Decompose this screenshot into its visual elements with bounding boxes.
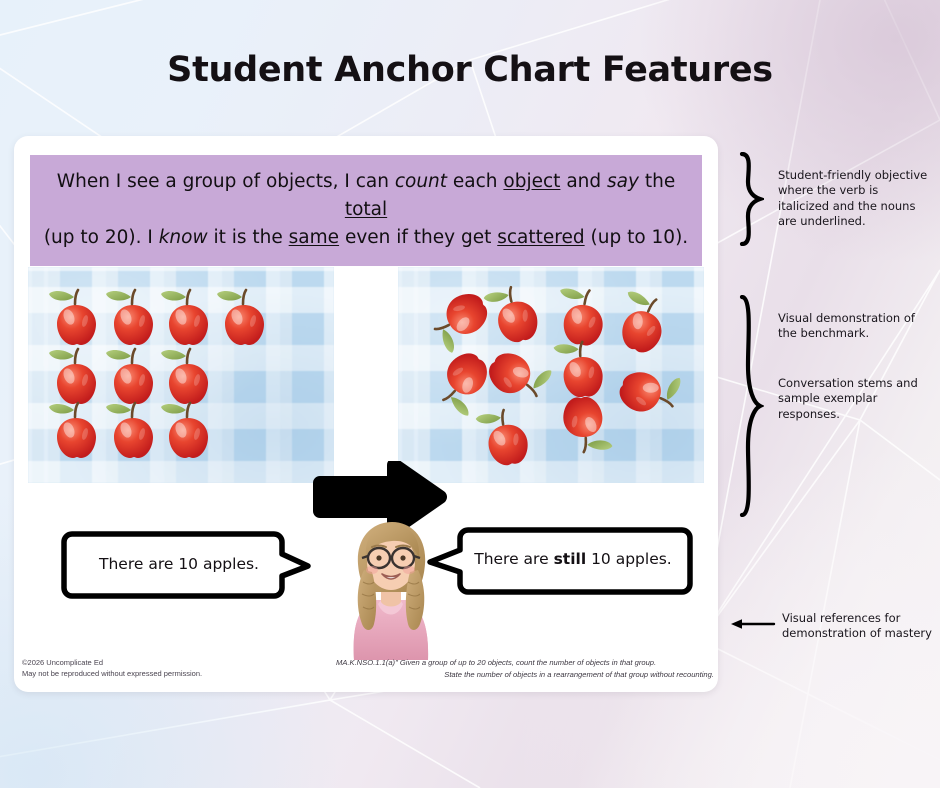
standard-footer: MA.K.NSO.1.1(a)" Given a group of up to …	[336, 657, 714, 681]
objective-line-1: When I see a group of objects, I can cou…	[57, 171, 675, 220]
objective-line-2: (up to 20). I know it is the same even i…	[44, 227, 688, 248]
speech-bubble-right-text: There are still 10 apples.	[466, 550, 680, 568]
copyright-footer: ©2026 Uncomplicate Ed May not be reprodu…	[22, 657, 202, 680]
emphasis-still: still	[554, 550, 587, 568]
standard-line-1: MA.K.NSO.1.1(a)" Given a group of up to …	[336, 657, 714, 669]
grouped-apples-illustration	[28, 267, 334, 483]
objective-noun-total: total	[345, 199, 387, 220]
grouped-apples-panel	[28, 267, 334, 483]
page-title: Student Anchor Chart Features	[0, 50, 940, 90]
left-arrow-icon	[730, 617, 776, 631]
annotation-mastery: Visual references for demonstration of m…	[782, 611, 934, 642]
objective-verb-know: know	[159, 227, 208, 248]
objective-noun-same: same	[289, 227, 339, 248]
scattered-apples-illustration	[398, 267, 704, 483]
objective-noun-scattered: scattered	[497, 227, 584, 248]
objective-verb-count: count	[395, 171, 447, 192]
objective-verb-say: say	[607, 171, 639, 192]
copyright-line-1: ©2026 Uncomplicate Ed	[22, 657, 202, 668]
brace-bottom-icon	[738, 295, 764, 517]
annotation-objective: Student-friendly objective where the ver…	[778, 168, 930, 230]
standard-line-2: State the number of objects in a rearran…	[336, 669, 714, 681]
speech-bubble-right: There are still 10 apples.	[424, 522, 696, 600]
speech-bubble-left: There are 10 apples.	[58, 526, 316, 604]
objective-noun-object: object	[503, 171, 560, 192]
scattered-apples-panel	[398, 267, 704, 483]
annotation-conversation-stems: Conversation stems and sample exemplar r…	[778, 376, 930, 422]
objective-banner: When I see a group of objects, I can cou…	[30, 155, 702, 266]
annotation-visual-demonstration: Visual demonstration of the benchmark.	[778, 311, 930, 342]
speech-bubble-left-text: There are 10 apples.	[76, 555, 282, 573]
student-illustration	[332, 508, 448, 660]
brace-top-icon	[738, 152, 764, 246]
copyright-line-2: May not be reproduced without expressed …	[22, 668, 202, 679]
anchor-chart-card: When I see a group of objects, I can cou…	[14, 136, 718, 692]
